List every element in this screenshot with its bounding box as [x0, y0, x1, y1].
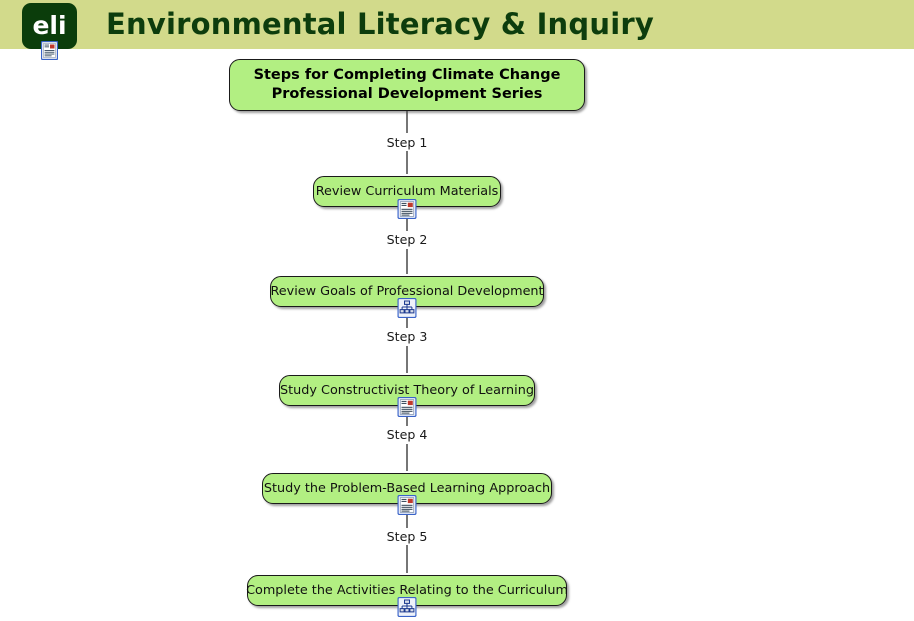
node-label: Study the Problem-Based Learning Approac…: [252, 481, 562, 496]
title-line-2: Professional Development Series: [244, 85, 571, 104]
connector-label-step-3: Step 3: [380, 329, 435, 344]
node-label: Study Constructivist Theory of Learning: [268, 383, 546, 398]
document-icon[interactable]: [398, 495, 417, 515]
connector-label-step-2: Step 2: [380, 232, 435, 247]
eli-logo[interactable]: eli: [22, 3, 77, 49]
node-label: Review Curriculum Materials: [304, 184, 511, 199]
flowchart-connectors: [0, 51, 914, 621]
connector-label-step-4: Step 4: [380, 427, 435, 442]
page-title: Environmental Literacy & Inquiry: [106, 7, 654, 41]
node-label: Review Goals of Professional Development: [258, 284, 555, 299]
title-line-1: Steps for Completing Climate Change: [244, 66, 571, 85]
connector-label-step-1: Step 1: [380, 135, 435, 150]
flowchart: Steps for Completing Climate Change Prof…: [0, 51, 914, 621]
node-label: Complete the Activities Relating to the …: [234, 583, 580, 598]
connector-label-step-5: Step 5: [380, 529, 435, 544]
hierarchy-icon[interactable]: [398, 298, 417, 318]
flowchart-title-text: Steps for Completing Climate Change Prof…: [244, 66, 571, 103]
document-icon[interactable]: [398, 199, 417, 219]
hierarchy-icon[interactable]: [398, 597, 417, 617]
logo-text: eli: [32, 13, 66, 40]
document-icon[interactable]: [398, 397, 417, 417]
flowchart-title-node[interactable]: Steps for Completing Climate Change Prof…: [229, 59, 585, 111]
page-header: eli Environmental Literacy & Inquiry: [0, 0, 914, 51]
